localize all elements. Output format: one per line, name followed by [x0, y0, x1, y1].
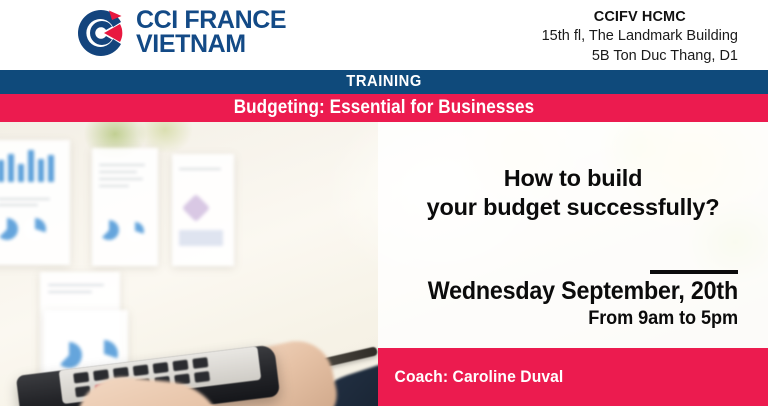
logo-line-2: VIETNAM [136, 33, 286, 57]
event-date: Wednesday September, 20th [403, 277, 738, 305]
organization-name: CCIFV HCMC [542, 8, 738, 27]
headline-line-1: How to build [378, 164, 768, 193]
flyer-header: CCI FRANCE VIETNAM CCIFV HCMC 15th fl, T… [0, 0, 768, 70]
category-banner: TRAINING [0, 70, 768, 94]
chart-paper-3 [172, 154, 234, 266]
cci-logo-icon [75, 7, 127, 59]
chart-paper-1 [0, 140, 70, 265]
category-banner-label: TRAINING [346, 73, 422, 91]
topic-banner: Budgeting: Essential for Businesses [0, 94, 768, 122]
coach-bar: Coach: Caroline Duval [378, 348, 768, 406]
contact-address-block: CCIFV HCMC 15th fl, The Landmark Buildin… [542, 8, 738, 66]
cci-france-vietnam-logo: CCI FRANCE VIETNAM [75, 7, 286, 59]
headline-line-2: your budget successfully? [378, 193, 768, 222]
event-date-block: Wednesday September, 20th From 9am to 5p… [378, 277, 768, 330]
event-headline: How to build your budget successfully? [378, 164, 768, 221]
topic-banner-label: Budgeting: Essential for Businesses [234, 97, 535, 119]
address-line-1: 15th fl, The Landmark Building [542, 27, 738, 46]
divider-rule [650, 270, 738, 274]
address-line-2: 5B Ton Duc Thang, D1 [542, 47, 738, 66]
coach-name-label: Coach: Caroline Duval [378, 367, 563, 387]
event-time: From 9am to 5pm [403, 307, 738, 330]
chart-paper-2 [92, 148, 158, 266]
logo-wordmark: CCI FRANCE VIETNAM [136, 9, 286, 57]
training-flyer: CCI FRANCE VIETNAM CCIFV HCMC 15th fl, T… [0, 0, 768, 406]
